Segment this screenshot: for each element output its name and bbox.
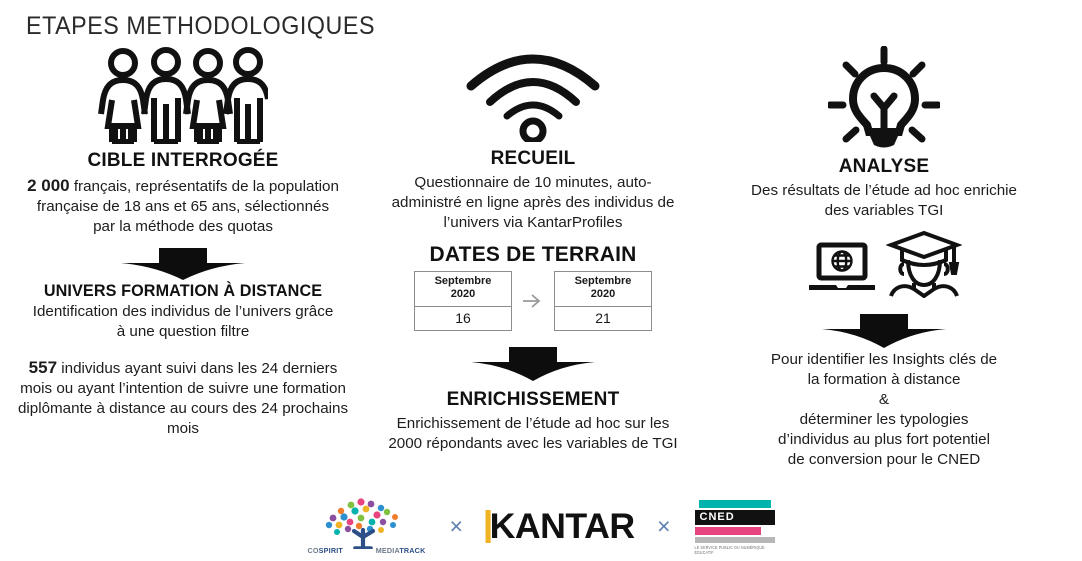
analyse-body: Des résultats de l’étude ad hoc enrichie… [704,181,1064,221]
date-end-month-label: Septembre [575,275,632,287]
column-analyse: ANALYSE Des résultats de l’étude ad hoc … [704,46,1064,470]
cned-logo: CNED LE SERVICE PUBLIC DU NUMÉRIQUE ÉDUC… [695,500,775,553]
heading-enrichissement: ENRICHISSEMENT [372,389,694,411]
heading-dates-terrain: DATES DE TERRAIN [372,243,694,267]
laptop-globe-icon [806,240,878,303]
cospirit-mediatrack-logo: COSPIRIT MEDIATRACK [307,497,425,555]
graduate-icon [886,230,962,303]
heading-recueil: RECUEIL [372,148,694,170]
cible-stat-number: 2 000 [27,176,70,195]
cospirit-wordmark: COSPIRIT MEDIATRACK [307,546,425,555]
heading-analyse: ANALYSE [704,156,1064,178]
column-recueil: RECUEIL Questionnaire de 10 minutes, aut… [372,46,694,454]
dates-table: Septembre 2020 16 Septembre 2020 21 [372,271,694,331]
date-end-day: 21 [555,307,651,330]
cospirit-co: CO [307,546,318,555]
cned-wordmark: CNED [695,510,775,525]
univers-stat-text: individus ayant suivi dans les 24 dernie… [18,360,348,438]
analyse-goal-text: Pour identifier les Insights clés de la … [704,350,1064,470]
wifi-icon [372,46,694,142]
date-start-month-label: Septembre [435,275,492,287]
kantar-logo: KANTAR [485,509,634,544]
date-end-year-label: 2020 [591,288,615,300]
infographic-page: ETAPES METHODOLOGIQUES [0,0,1082,561]
arrow-down-analyse [704,312,1064,350]
cned-bar-gray [695,537,775,543]
cible-stat-text: français, représentatifs de la populatio… [37,178,339,236]
cospirit-spirit: SPIRIT [319,546,343,555]
enrichissement-body: Enrichissement de l’étude ad hoc sur les… [372,414,694,454]
goal-line-4: d’individus au plus fort potentiel [732,430,1036,450]
date-end-month: Septembre 2020 [555,272,651,307]
mediatrack-media: MEDIA [376,546,400,555]
arrow-down-univers [8,246,358,282]
four-people-icon [8,46,358,144]
goal-line-1: Pour identifier les Insights clés de [732,350,1036,370]
mediatrack-word: MEDIATRACK [376,546,426,555]
arrow-down-enrichissement [372,345,694,383]
cned-tagline: LE SERVICE PUBLIC DU NUMÉRIQUE ÉDUCATIF [695,545,775,555]
date-box-end: Septembre 2020 21 [554,271,652,331]
logo-separator-2: × [655,513,672,540]
univers-stat-number: 557 [29,358,57,377]
cible-stat-paragraph: 2 000 français, représentatifs de la pop… [8,175,358,238]
kantar-wordmark: KANTAR [490,507,635,546]
footer-logos: COSPIRIT MEDIATRACK × KANTAR × CNED LE S… [0,497,1082,555]
page-title: ETAPES METHODOLOGIQUES [26,12,375,41]
date-start-day: 16 [415,307,511,330]
univers-body: Identification des individus de l’univer… [8,302,358,342]
cned-bar-teal [699,500,771,508]
goal-line-2: la formation à distance [732,370,1036,390]
recueil-body: Questionnaire de 10 minutes, auto-admini… [372,173,694,233]
goal-line-3: déterminer les typologies [732,410,1036,430]
mediatrack-track: TRACK [399,546,425,555]
date-box-start: Septembre 2020 16 [414,271,512,331]
date-start-month: Septembre 2020 [415,272,511,307]
lightbulb-icon [704,46,1064,150]
goal-ampersand: & [732,390,1036,410]
analyse-icon-group [704,230,1064,303]
logo-separator-1: × [447,513,464,540]
date-range-arrow-icon [520,292,546,310]
cospirit-word: COSPIRIT [307,546,343,555]
goal-line-5: de conversion pour le CNED [732,450,1036,470]
date-start-year-label: 2020 [451,288,475,300]
heading-cible-interrogee: CIBLE INTERROGÉE [8,150,358,172]
univers-stat-paragraph: 557 individus ayant suivi dans les 24 de… [8,357,358,440]
heading-univers-formation: UNIVERS FORMATION À DISTANCE [8,282,358,301]
column-cible-interrogee: CIBLE INTERROGÉE 2 000 français, représe… [8,46,358,439]
cned-bar-pink [695,527,761,535]
